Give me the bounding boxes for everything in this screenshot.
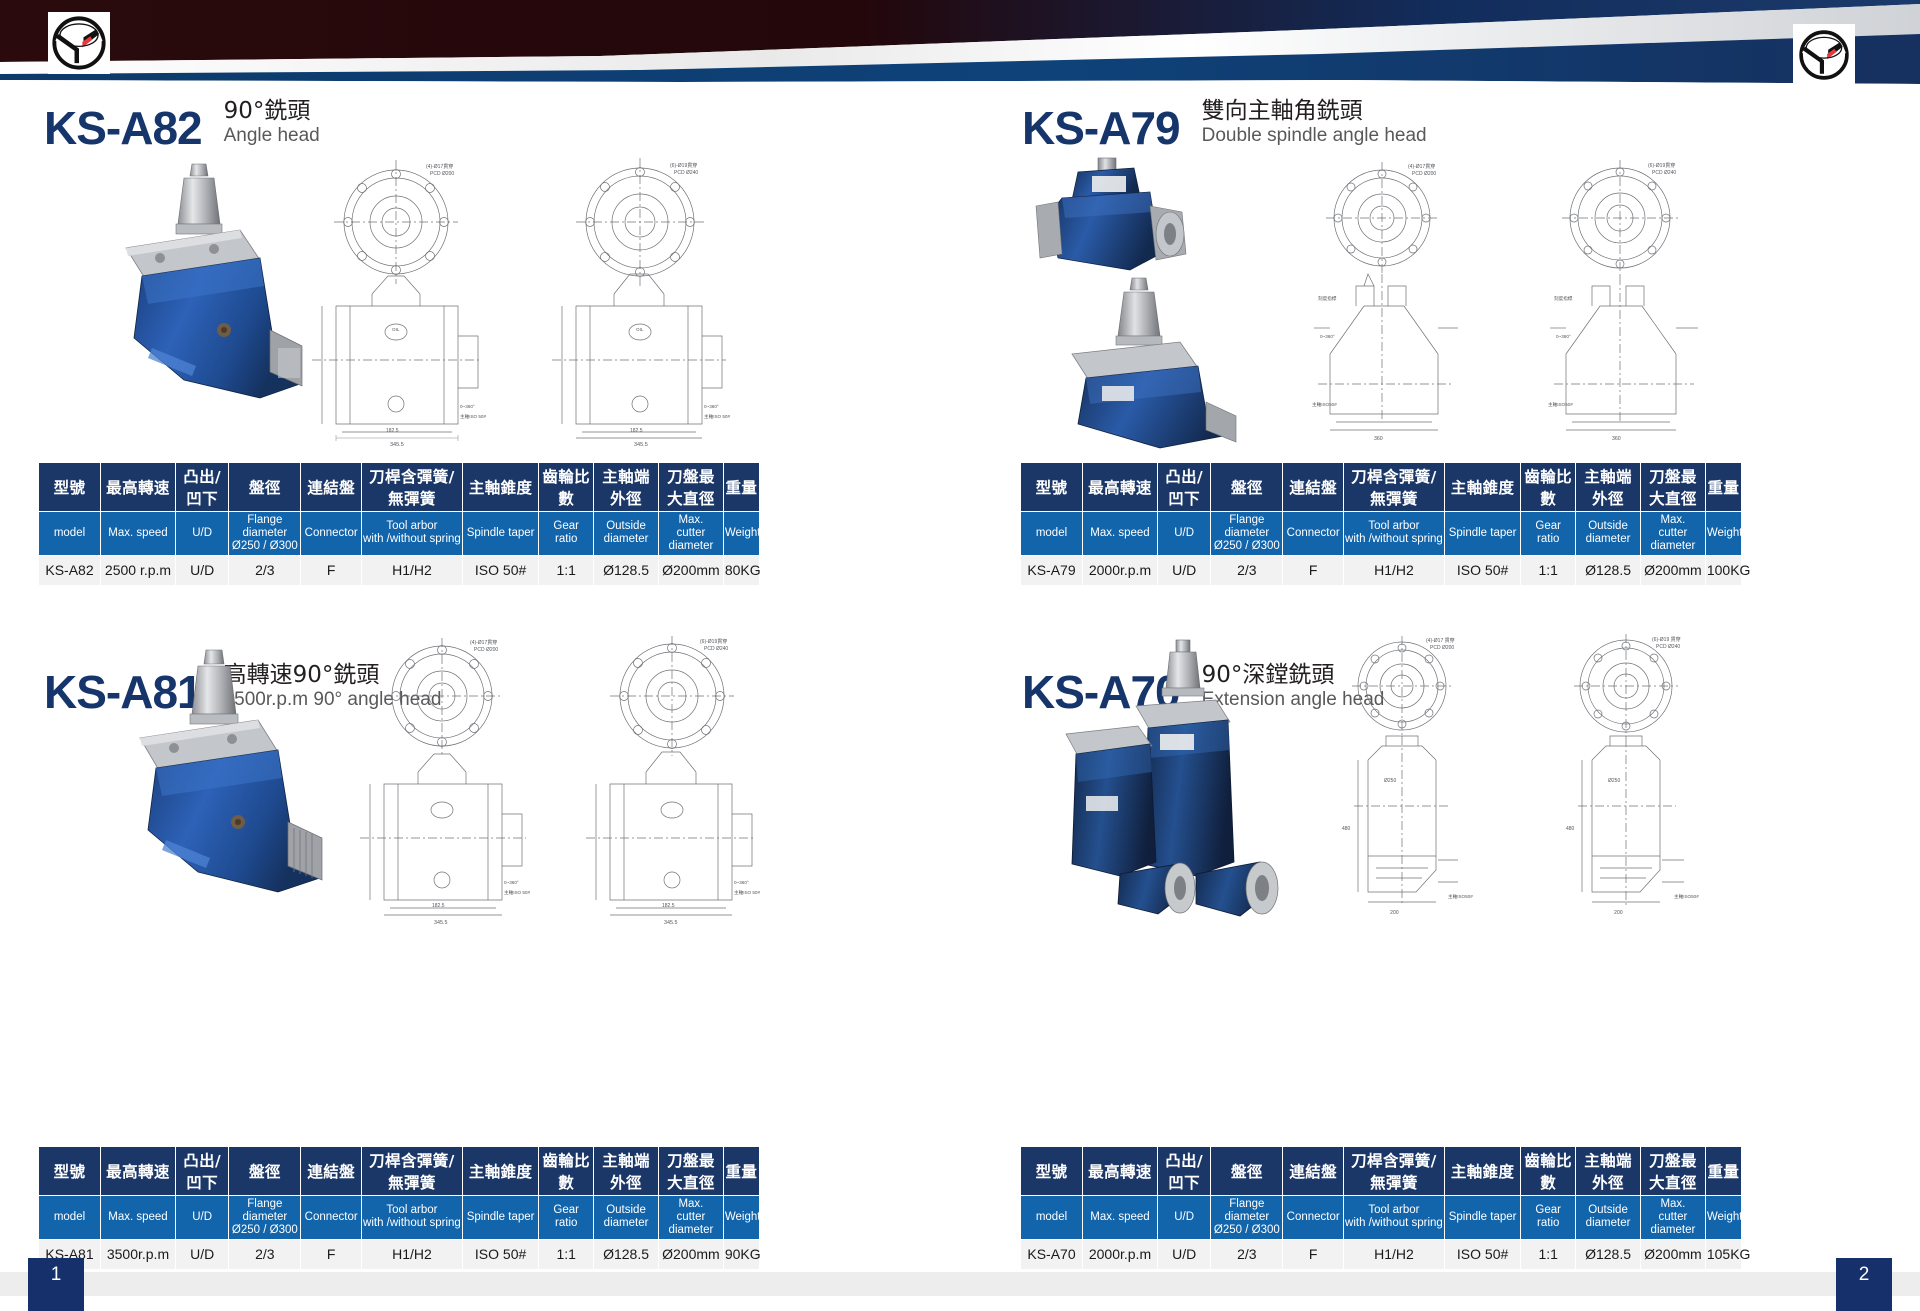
- table-header-row-en: model Max. speed U/D Flange diameter Ø25…: [1021, 1196, 1742, 1240]
- product-block-ks-a82: KS-A82 90°銑頭 Angle head: [44, 98, 774, 151]
- cell-max-speed: 2500 r.p.m: [101, 555, 176, 585]
- cell-tool-arbor: H1/H2: [1343, 1239, 1444, 1269]
- product-heading: KS-A79 雙向主軸角銑頭 Double spindle angle head: [1022, 98, 1752, 151]
- product-photo-ks-a81: [80, 628, 340, 928]
- drawing-dim-250: Ø250: [1608, 778, 1620, 784]
- th-cn-model: 型號: [1021, 1147, 1083, 1196]
- engineering-drawing-front-a82: 345.5 182.5 (4)-Ø17貫穿 PCD Ø200 OIL 0~360…: [292, 156, 532, 451]
- cell-weight: 90KG: [723, 1239, 759, 1269]
- table-row: KS-A79 2000r.p.m U/D 2/3 F H1/H2 ISO 50#…: [1021, 555, 1742, 585]
- engineering-drawing-front-a81: 345.5 182.5 (4)-Ø17貫穿 PCD Ø200 0~360° 主軸…: [340, 632, 570, 928]
- page-number-right: 2: [1836, 1258, 1892, 1311]
- cell-gear-ratio: 1:1: [1521, 1239, 1576, 1269]
- drawing-label-pcd-b: PCD Ø240: [1656, 644, 1680, 650]
- drawing-label-iso: 主軸ISO 50#: [460, 413, 486, 420]
- page-number-left: 1: [28, 1258, 84, 1311]
- th-en-weight: Weight: [723, 512, 759, 556]
- cell-flange: 2/3: [229, 1239, 301, 1269]
- product-photo-ks-a70: [1010, 626, 1290, 931]
- cell-model: KS-A82: [39, 555, 101, 585]
- th-cn-max-speed: 最高轉速: [1083, 463, 1158, 512]
- cell-outside-dia: Ø128.5: [594, 555, 659, 585]
- th-en-ud: U/D: [175, 512, 228, 556]
- th-en-flange: Flange diameter Ø250 / Ø300: [1211, 512, 1283, 556]
- cell-connector: F: [301, 555, 362, 585]
- product-title-cn: 90°銑頭: [224, 98, 320, 125]
- cell-weight: 80KG: [723, 555, 759, 585]
- cell-max-speed: 2000r.p.m: [1083, 1239, 1158, 1269]
- th-en-max-speed: Max. speed: [1083, 1196, 1158, 1240]
- drawing-label-bolt-circle-b: (6)-Ø19貫穿: [700, 638, 727, 645]
- cell-cutter-dia: Ø200mm: [1640, 1239, 1705, 1269]
- th-en-gear-ratio: Gear ratio: [539, 1196, 594, 1240]
- th-cn-outside-dia: 主軸端外徑: [1576, 463, 1641, 512]
- table-row: KS-A81 3500r.p.m U/D 2/3 F H1/H2 ISO 50#…: [39, 1239, 760, 1269]
- th-cn-weight: 重量: [723, 1147, 759, 1196]
- cell-spindle-taper: ISO 50#: [1444, 555, 1520, 585]
- table-header-row-en: model Max. speed U/D Flange diameter Ø25…: [39, 512, 760, 556]
- cell-outside-dia: Ø128.5: [1576, 1239, 1641, 1269]
- drawing-label-pcd: PCD Ø200: [474, 647, 498, 653]
- drawing-label-iso: 主軸ISO 50#: [704, 413, 730, 420]
- table-header-row-en: model Max. speed U/D Flange diameter Ø25…: [1021, 512, 1742, 556]
- th-cn-spindle-taper: 主軸錐度: [462, 1147, 538, 1196]
- drawing-label-bolt-circle: (4)-Ø17貫穿: [470, 639, 497, 646]
- th-cn-weight: 重量: [1705, 463, 1741, 512]
- cell-cutter-dia: Ø200mm: [658, 555, 723, 585]
- drawing-dim-345: 345.5: [390, 442, 404, 448]
- product-block-ks-a79: KS-A79 雙向主軸角銑頭 Double spindle angle head: [1022, 98, 1752, 151]
- cell-tool-arbor: H1/H2: [1343, 555, 1444, 585]
- drawing-label-bolt-circle: (4)-Ø17貫穿: [426, 163, 453, 170]
- th-en-max-speed: Max. speed: [1083, 512, 1158, 556]
- th-en-ud: U/D: [1157, 512, 1210, 556]
- th-cn-cutter-dia: 刀盤最大直徑: [1640, 1147, 1705, 1196]
- drawing-dim-200: 200: [1614, 910, 1623, 916]
- drawing-label-pcd-b: PCD Ø240: [674, 170, 698, 176]
- drawing-label-bolt-circle-b: (6)-Ø19 貫穿: [1652, 636, 1681, 643]
- footer-bar: [0, 1272, 1920, 1296]
- cell-model: KS-A70: [1021, 1239, 1083, 1269]
- th-en-cutter-dia: Max. cutter diameter: [1640, 512, 1705, 556]
- th-cn-gear-ratio: 齒輪比數: [1521, 463, 1576, 512]
- cell-max-speed: 2000r.p.m: [1083, 555, 1158, 585]
- th-en-connector: Connector: [301, 512, 362, 556]
- drawing-label-pcd: PCD Ø200: [1430, 645, 1454, 651]
- drawing-label-rotation: 0~360°: [704, 404, 719, 409]
- cell-flange: 2/3: [229, 555, 301, 585]
- th-en-tool-arbor: Tool arbor with /without spring: [361, 512, 462, 556]
- th-cn-flange: 盤徑: [1211, 463, 1283, 512]
- drawing-dim-360: 360: [1612, 436, 1621, 442]
- cell-tool-arbor: H1/H2: [361, 555, 462, 585]
- drawing-label-iso: 主軸ISO 50#: [504, 889, 530, 896]
- th-en-flange: Flange diameter Ø250 / Ø300: [1211, 1196, 1283, 1240]
- th-en-connector: Connector: [1283, 512, 1344, 556]
- drawing-label-bolt-circle-b: (6)-Ø19貫穿: [670, 162, 697, 169]
- th-en-spindle-taper: Spindle taper: [462, 1196, 538, 1240]
- th-en-outside-dia: Outside diameter: [1576, 512, 1641, 556]
- cell-weight: 100KG: [1705, 555, 1741, 585]
- th-cn-gear-ratio: 齒輪比數: [539, 463, 594, 512]
- drawing-dim-182: 182.5: [630, 428, 643, 434]
- table-header-row-cn: 型號 最高轉速 凸出/凹下 盤徑 連結盤 刀桿含彈簧/無彈簧 主軸錐度 齒輪比數…: [1021, 1147, 1742, 1196]
- th-en-model: model: [39, 512, 101, 556]
- drawing-label-pcd-b: PCD Ø240: [704, 646, 728, 652]
- th-en-flange: Flange diameter Ø250 / Ø300: [229, 512, 301, 556]
- th-cn-gear-ratio: 齒輪比數: [539, 1147, 594, 1196]
- product-heading: KS-A82 90°銑頭 Angle head: [44, 98, 774, 151]
- th-en-cutter-dia: Max. cutter diameter: [658, 1196, 723, 1240]
- drawing-label-pcd: PCD Ø200: [430, 171, 454, 177]
- drawing-label-iso: 主軸ISO50#: [1448, 893, 1473, 900]
- th-en-flange: Flange diameter Ø250 / Ø300: [229, 1196, 301, 1240]
- table-header-row-en: model Max. speed U/D Flange diameter Ø25…: [39, 1196, 760, 1240]
- th-en-gear-ratio: Gear ratio: [539, 512, 594, 556]
- th-en-cutter-dia: Max. cutter diameter: [1640, 1196, 1705, 1240]
- cell-ud: U/D: [1157, 555, 1210, 585]
- engineering-drawing-side-a81: 345.5 182.5 (6)-Ø19貫穿 PCD Ø240 0~360° 主軸…: [564, 632, 804, 928]
- table-row: KS-A82 2500 r.p.m U/D 2/3 F H1/H2 ISO 50…: [39, 555, 760, 585]
- th-en-weight: Weight: [1705, 1196, 1741, 1240]
- th-cn-ud: 凸出/凹下: [175, 1147, 228, 1196]
- th-en-spindle-taper: Spindle taper: [462, 512, 538, 556]
- th-cn-spindle-taper: 主軸錐度: [1444, 463, 1520, 512]
- product-figures-ks-a81: 345.5 182.5 (4)-Ø17貫穿 PCD Ø200 0~360° 主軸…: [44, 628, 774, 928]
- engineering-drawing-side-a82: 345.5 182.5 (6)-Ø19貫穿 PCD Ø240 OIL 0~360…: [530, 156, 780, 451]
- th-en-model: model: [39, 1196, 101, 1240]
- th-en-gear-ratio: Gear ratio: [1521, 1196, 1576, 1240]
- th-cn-ud: 凸出/凹下: [1157, 1147, 1210, 1196]
- th-en-outside-dia: Outside diameter: [594, 1196, 659, 1240]
- th-en-cutter-dia: Max. cutter diameter: [658, 512, 723, 556]
- cell-connector: F: [1283, 555, 1344, 585]
- product-model-code: KS-A79: [1022, 105, 1180, 151]
- drawing-label-pcd-b: PCD Ø240: [1652, 170, 1676, 176]
- th-cn-weight: 重量: [723, 463, 759, 512]
- drawing-label-scale: 刻度指標: [1554, 295, 1573, 302]
- th-en-max-speed: Max. speed: [101, 512, 176, 556]
- th-en-outside-dia: Outside diameter: [594, 512, 659, 556]
- catalog-page: KS-A82 90°銑頭 Angle head: [0, 0, 1920, 1311]
- table-row: KS-A70 2000r.p.m U/D 2/3 F H1/H2 ISO 50#…: [1021, 1239, 1742, 1269]
- drawing-label-scale: 刻度指標: [1318, 295, 1337, 302]
- drawing-label-bolt-circle: (4)-Ø17 貫穿: [1426, 637, 1455, 644]
- th-cn-tool-arbor: 刀桿含彈簧/無彈簧: [361, 463, 462, 512]
- th-en-outside-dia: Outside diameter: [1576, 1196, 1641, 1240]
- th-cn-model: 型號: [39, 1147, 101, 1196]
- company-logo-left: [48, 12, 110, 74]
- drawing-dim-480: 480: [1566, 826, 1575, 832]
- th-en-tool-arbor: Tool arbor with /without spring: [1343, 1196, 1444, 1240]
- drawing-label-rotation: 0~360°: [734, 880, 749, 885]
- drawing-label-iso: 主軸ISO 50#: [734, 889, 760, 896]
- product-model-code: KS-A82: [44, 105, 202, 151]
- cell-gear-ratio: 1:1: [539, 555, 594, 585]
- engineering-drawing-side-a79: 360 (6)-Ø19貫穿 PCD Ø240 刻度指標 0~360° 主軸ISO…: [1512, 156, 1750, 446]
- product-title-cn: 雙向主軸角銑頭: [1202, 98, 1427, 125]
- th-cn-flange: 盤徑: [1211, 1147, 1283, 1196]
- drawing-dim-360: 360: [1374, 436, 1383, 442]
- th-cn-outside-dia: 主軸端外徑: [594, 1147, 659, 1196]
- th-cn-connector: 連結盤: [1283, 463, 1344, 512]
- th-en-tool-arbor: Tool arbor with /without spring: [1343, 512, 1444, 556]
- drawing-label-iso: 主軸ISO50#: [1548, 401, 1573, 408]
- cell-model: KS-A79: [1021, 555, 1083, 585]
- product-photo-ks-a79: [1010, 150, 1270, 450]
- th-cn-flange: 盤徑: [229, 463, 301, 512]
- th-en-model: model: [1021, 512, 1083, 556]
- th-cn-spindle-taper: 主軸錐度: [462, 463, 538, 512]
- drawing-dim-345: 345.5: [434, 920, 448, 926]
- th-cn-max-speed: 最高轉速: [101, 1147, 176, 1196]
- drawing-label-iso: 主軸ISO50#: [1312, 401, 1337, 408]
- th-en-spindle-taper: Spindle taper: [1444, 1196, 1520, 1240]
- drawing-label-iso: 主軸ISO50#: [1674, 893, 1699, 900]
- company-logo-right: [1793, 24, 1855, 86]
- th-en-ud: U/D: [175, 1196, 228, 1240]
- product-figures-ks-a82: 345.5 182.5 (4)-Ø17貫穿 PCD Ø200 OIL 0~360…: [44, 152, 774, 452]
- drawing-label-rotation: 0~360°: [504, 880, 519, 885]
- cell-gear-ratio: 1:1: [1521, 555, 1576, 585]
- drawing-label-bolt-circle-b: (6)-Ø19貫穿: [1648, 162, 1675, 169]
- drawing-dim-182: 182.5: [662, 903, 675, 909]
- company-logo-icon: [1798, 29, 1850, 81]
- cell-spindle-taper: ISO 50#: [462, 1239, 538, 1269]
- th-cn-spindle-taper: 主軸錐度: [1444, 1147, 1520, 1196]
- th-cn-tool-arbor: 刀桿含彈簧/無彈簧: [1343, 463, 1444, 512]
- cell-spindle-taper: ISO 50#: [1444, 1239, 1520, 1269]
- th-en-weight: Weight: [1705, 512, 1741, 556]
- th-cn-connector: 連結盤: [301, 1147, 362, 1196]
- th-cn-max-speed: 最高轉速: [1083, 1147, 1158, 1196]
- drawing-dim-200: 200: [1390, 910, 1399, 916]
- th-cn-ud: 凸出/凹下: [175, 463, 228, 512]
- cell-tool-arbor: H1/H2: [361, 1239, 462, 1269]
- drawing-label-rotation: 0~360°: [1320, 334, 1335, 339]
- cell-flange: 2/3: [1211, 555, 1283, 585]
- drawing-label-oil: OIL: [392, 327, 400, 332]
- engineering-drawing-side-a70: 200 Ø250 (6)-Ø19 貫穿 PCD Ø240 480 主軸ISO50…: [1518, 630, 1750, 926]
- th-en-max-speed: Max. speed: [101, 1196, 176, 1240]
- drawing-label-pcd: PCD Ø200: [1412, 171, 1436, 177]
- cell-max-speed: 3500r.p.m: [101, 1239, 176, 1269]
- cell-ud: U/D: [1157, 1239, 1210, 1269]
- engineering-drawing-front-a79: 360 (4)-Ø17貫穿 PCD Ø200 刻度指標 0~360° 主軸ISO…: [1278, 156, 1506, 446]
- spec-table-ks-a70: 型號 最高轉速 凸出/凹下 盤徑 連結盤 刀桿含彈簧/無彈簧 主軸錐度 齒輪比數…: [1020, 1146, 1742, 1270]
- th-cn-cutter-dia: 刀盤最大直徑: [658, 1147, 723, 1196]
- cell-connector: F: [301, 1239, 362, 1269]
- cell-outside-dia: Ø128.5: [594, 1239, 659, 1269]
- th-cn-connector: 連結盤: [1283, 1147, 1344, 1196]
- drawing-dim-182: 182.5: [432, 903, 445, 909]
- th-en-ud: U/D: [1157, 1196, 1210, 1240]
- drawing-label-oil: OIL: [636, 327, 644, 332]
- product-figures-ks-a70: 200 Ø250 (4)-Ø17 貫穿 PCD Ø200 480 主軸ISO50…: [1010, 626, 1750, 931]
- drawing-label-rotation: 0~360°: [460, 404, 475, 409]
- product-photo-ks-a82: [64, 152, 314, 452]
- th-en-spindle-taper: Spindle taper: [1444, 512, 1520, 556]
- th-en-weight: Weight: [723, 1196, 759, 1240]
- drawing-dim-480: 480: [1342, 826, 1351, 832]
- drawing-dim-345: 345.5: [664, 920, 678, 926]
- spec-table-ks-a81: 型號 最高轉速 凸出/凹下 盤徑 連結盤 刀桿含彈簧/無彈簧 主軸錐度 齒輪比數…: [38, 1146, 760, 1270]
- drawing-dim-182: 182.5: [386, 428, 399, 434]
- th-en-model: model: [1021, 1196, 1083, 1240]
- th-cn-weight: 重量: [1705, 1147, 1741, 1196]
- cell-flange: 2/3: [1211, 1239, 1283, 1269]
- th-cn-gear-ratio: 齒輪比數: [1521, 1147, 1576, 1196]
- spec-table-ks-a82: 型號 最高轉速 凸出/凹下 盤徑 連結盤 刀桿含彈簧/無彈簧 主軸錐度 齒輪比數…: [38, 462, 760, 586]
- header-banner: [0, 0, 1920, 92]
- th-cn-outside-dia: 主軸端外徑: [1576, 1147, 1641, 1196]
- company-logo-icon: [51, 15, 107, 71]
- drawing-label-bolt-circle: (4)-Ø17貫穿: [1408, 163, 1435, 170]
- product-title-en: Double spindle angle head: [1202, 125, 1427, 148]
- cell-spindle-taper: ISO 50#: [462, 555, 538, 585]
- th-cn-ud: 凸出/凹下: [1157, 463, 1210, 512]
- cell-ud: U/D: [175, 1239, 228, 1269]
- cell-outside-dia: Ø128.5: [1576, 555, 1641, 585]
- th-cn-tool-arbor: 刀桿含彈簧/無彈簧: [1343, 1147, 1444, 1196]
- engineering-drawing-front-a70: 200 Ø250 (4)-Ø17 貫穿 PCD Ø200 480 主軸ISO50…: [1298, 630, 1518, 926]
- drawing-dim-250: Ø250: [1384, 778, 1396, 784]
- drawing-label-rotation: 0~360°: [1556, 334, 1571, 339]
- cell-connector: F: [1283, 1239, 1344, 1269]
- product-figures-ks-a79: 360 (4)-Ø17貫穿 PCD Ø200 刻度指標 0~360° 主軸ISO…: [1010, 150, 1750, 450]
- th-cn-connector: 連結盤: [301, 463, 362, 512]
- table-header-row-cn: 型號 最高轉速 凸出/凹下 盤徑 連結盤 刀桿含彈簧/無彈簧 主軸錐度 齒輪比數…: [1021, 463, 1742, 512]
- th-cn-model: 型號: [1021, 463, 1083, 512]
- cell-ud: U/D: [175, 555, 228, 585]
- table-header-row-cn: 型號 最高轉速 凸出/凹下 盤徑 連結盤 刀桿含彈簧/無彈簧 主軸錐度 齒輪比數…: [39, 1147, 760, 1196]
- cell-gear-ratio: 1:1: [539, 1239, 594, 1269]
- drawing-dim-345: 345.5: [634, 442, 648, 448]
- th-cn-model: 型號: [39, 463, 101, 512]
- cell-cutter-dia: Ø200mm: [658, 1239, 723, 1269]
- cell-weight: 105KG: [1705, 1239, 1741, 1269]
- th-en-connector: Connector: [301, 1196, 362, 1240]
- th-cn-cutter-dia: 刀盤最大直徑: [1640, 463, 1705, 512]
- cell-cutter-dia: Ø200mm: [1640, 555, 1705, 585]
- th-cn-flange: 盤徑: [229, 1147, 301, 1196]
- th-en-gear-ratio: Gear ratio: [1521, 512, 1576, 556]
- spec-table-ks-a79: 型號 最高轉速 凸出/凹下 盤徑 連結盤 刀桿含彈簧/無彈簧 主軸錐度 齒輪比數…: [1020, 462, 1742, 586]
- th-en-connector: Connector: [1283, 1196, 1344, 1240]
- th-cn-max-speed: 最高轉速: [101, 463, 176, 512]
- th-cn-tool-arbor: 刀桿含彈簧/無彈簧: [361, 1147, 462, 1196]
- th-en-tool-arbor: Tool arbor with /without spring: [361, 1196, 462, 1240]
- th-cn-outside-dia: 主軸端外徑: [594, 463, 659, 512]
- th-cn-cutter-dia: 刀盤最大直徑: [658, 463, 723, 512]
- product-title-en: Angle head: [224, 125, 320, 148]
- table-header-row-cn: 型號 最高轉速 凸出/凹下 盤徑 連結盤 刀桿含彈簧/無彈簧 主軸錐度 齒輪比數…: [39, 463, 760, 512]
